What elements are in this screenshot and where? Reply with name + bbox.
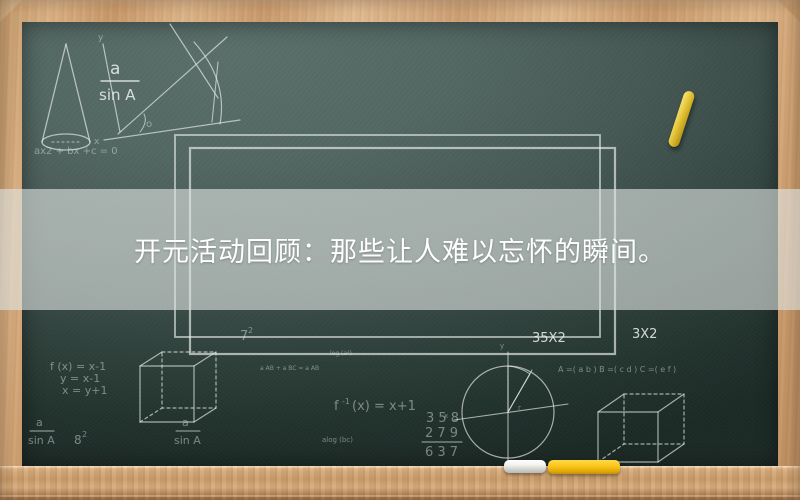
chalk-ledge — [0, 466, 800, 500]
cube-wireframe-left — [140, 352, 216, 422]
chalk-stick-yellow[interactable] — [548, 460, 620, 474]
axis-y-label: y — [98, 33, 104, 43]
column-addition: 3 5 8 2 7 9 6 3 7 — [422, 411, 462, 460]
circle-label-r: r — [518, 404, 521, 412]
function-equations: f (x) = x-1 y = x-1 x = y+1 — [50, 360, 107, 397]
inverse-function: f -1 (x) = x+1 — [334, 397, 416, 414]
eight-squared: 8 2 — [74, 430, 87, 447]
cone-label-sina: sin A — [99, 86, 136, 104]
eight-base: 8 — [74, 433, 82, 447]
alog-expression: alog (bc) — [322, 436, 353, 444]
quadratic-formula: ax2 + bx +c = 0 — [34, 146, 118, 157]
ledge-edge — [0, 495, 800, 497]
sine-sina-2: sin A — [174, 434, 201, 447]
chalkboard-screenshot: a sin A ax2 + bx +c = 0 y x o — [0, 0, 800, 500]
matrix-label-35x2: 35X2 — [532, 331, 566, 346]
eight-exponent: 2 — [82, 430, 87, 439]
chalk-stick-white[interactable] — [504, 460, 546, 473]
sum-result: 6 3 7 — [425, 445, 458, 460]
fx-line-3: x = y+1 — [62, 384, 107, 397]
addend-1: 3 5 8 — [426, 411, 459, 426]
cone-label-a: a — [110, 59, 120, 79]
caption-overlay-band: 开元活动回顾：那些让人难以忘怀的瞬间。 — [0, 189, 800, 310]
log-small: log (a²) — [330, 350, 352, 357]
matrix-row: A =( a b ) B =( c d ) C =( e f ) — [558, 365, 676, 374]
circle-sector-drawing: y x r — [444, 342, 568, 460]
circle-axis-y: y — [500, 342, 504, 350]
seven-squared: 7 2 — [240, 326, 253, 344]
matrix-notation: 35X2 3X2 A =( a b ) B =( c d ) C =( e f … — [532, 327, 676, 374]
inverse-exponent: -1 — [342, 397, 350, 406]
ledge-lip — [0, 466, 800, 469]
cube-wireframe-right — [598, 394, 684, 462]
sine-sina-1: sin A — [28, 434, 55, 447]
inverse-f: f — [334, 399, 339, 414]
inverse-rest: (x) = x+1 — [352, 399, 416, 414]
angle-label-o: o — [146, 119, 152, 130]
matrix-label-3x2: 3X2 — [632, 327, 657, 342]
sine-rule-label-top: a sin A — [99, 59, 139, 104]
ab-expression: a AB + a BC = a AB — [260, 365, 319, 372]
sine-a-2: a — [182, 416, 189, 429]
circle-axis-x: x — [444, 412, 448, 420]
addend-2: 2 7 9 — [425, 426, 458, 441]
axis-x-label: x — [94, 137, 100, 147]
sine-a-1: a — [36, 416, 43, 429]
sine-rule-bottom-left: a sin A — [28, 416, 55, 447]
caption-title: 开元活动回顾：那些让人难以忘怀的瞬间。 — [134, 230, 666, 269]
seven-exponent: 2 — [248, 326, 253, 335]
cone-drawing — [42, 44, 90, 150]
